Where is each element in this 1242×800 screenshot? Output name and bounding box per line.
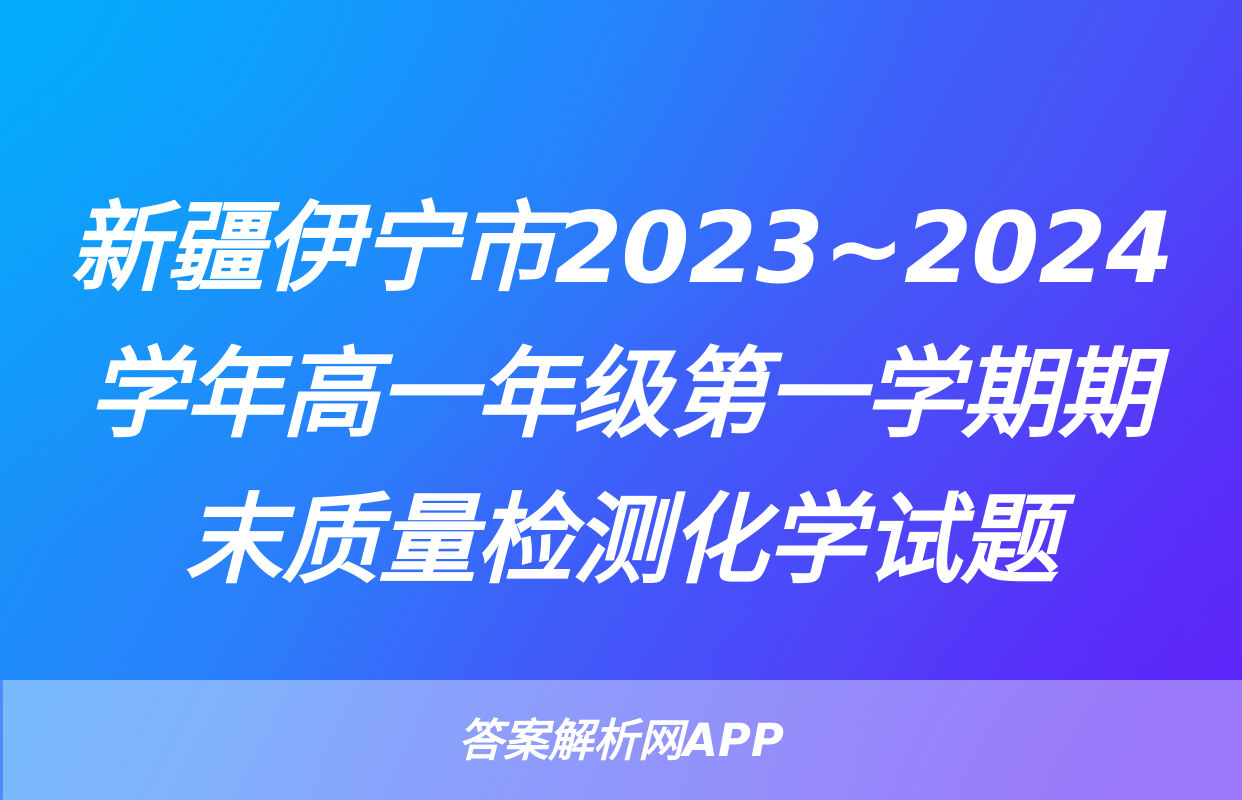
poster-canvas: 新疆伊宁市2023~2024 学年高一年级第一学期期 末质量检测化学试题 答案解… [0, 0, 1242, 800]
watermark-bar: 答案解析网APP [0, 680, 1242, 800]
title-line-2: 学年高一年级第一学期期 [46, 322, 1196, 468]
title-line-1: 新疆伊宁市2023~2024 [46, 176, 1196, 322]
title-line-3: 末质量检测化学试题 [46, 468, 1196, 614]
watermark-label: 答案解析网APP [458, 718, 784, 763]
page-title: 新疆伊宁市2023~2024 学年高一年级第一学期期 末质量检测化学试题 [0, 176, 1242, 614]
